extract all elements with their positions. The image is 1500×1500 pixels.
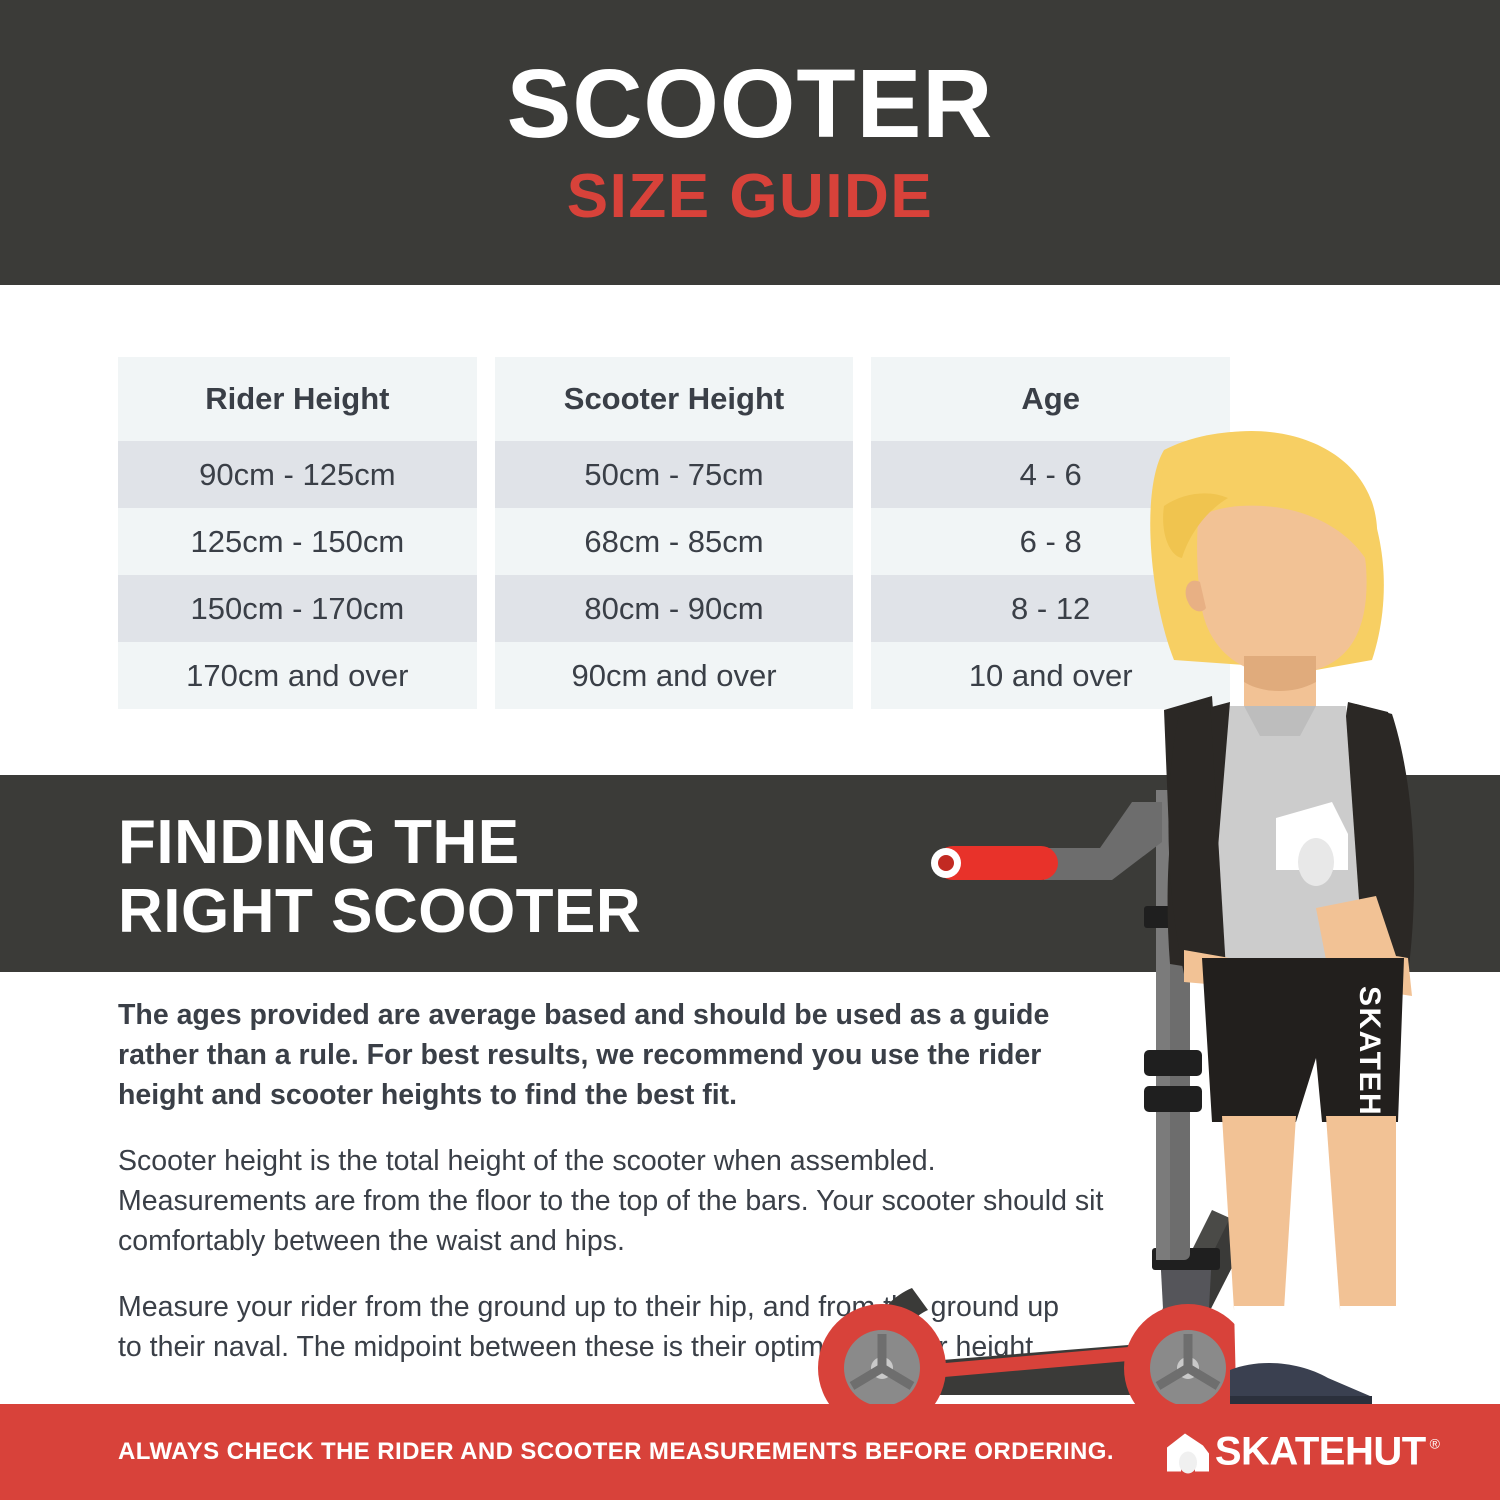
table-column-rider-height: Rider Height 90cm - 125cm 125cm - 150cm … — [118, 357, 477, 712]
brand-logo: SKATEHUT ® — [1165, 1430, 1440, 1475]
hut-icon — [1165, 1431, 1211, 1473]
column-header: Rider Height — [118, 357, 477, 441]
table-cell: 170cm and over — [118, 642, 477, 709]
page-header: SCOOTER SIZE GUIDE — [0, 0, 1500, 285]
table-cell: 150cm - 170cm — [118, 575, 477, 642]
footer-notice: ALWAYS CHECK THE RIDER AND SCOOTER MEASU… — [118, 1438, 1114, 1466]
page-footer: ALWAYS CHECK THE RIDER AND SCOOTER MEASU… — [0, 1404, 1500, 1500]
brand-name: SKATEHUT — [1215, 1430, 1426, 1475]
registered-mark: ® — [1430, 1436, 1440, 1452]
rider-and-scooter-illustration: SKATEHUT — [760, 410, 1500, 1410]
table-cell: 90cm - 125cm — [118, 441, 477, 508]
page-title: SCOOTER — [507, 55, 994, 154]
section-heading: FINDING THE RIGHT SCOOTER — [118, 808, 641, 947]
table-cell: 125cm - 150cm — [118, 508, 477, 575]
page-subtitle: SIZE GUIDE — [567, 164, 933, 229]
